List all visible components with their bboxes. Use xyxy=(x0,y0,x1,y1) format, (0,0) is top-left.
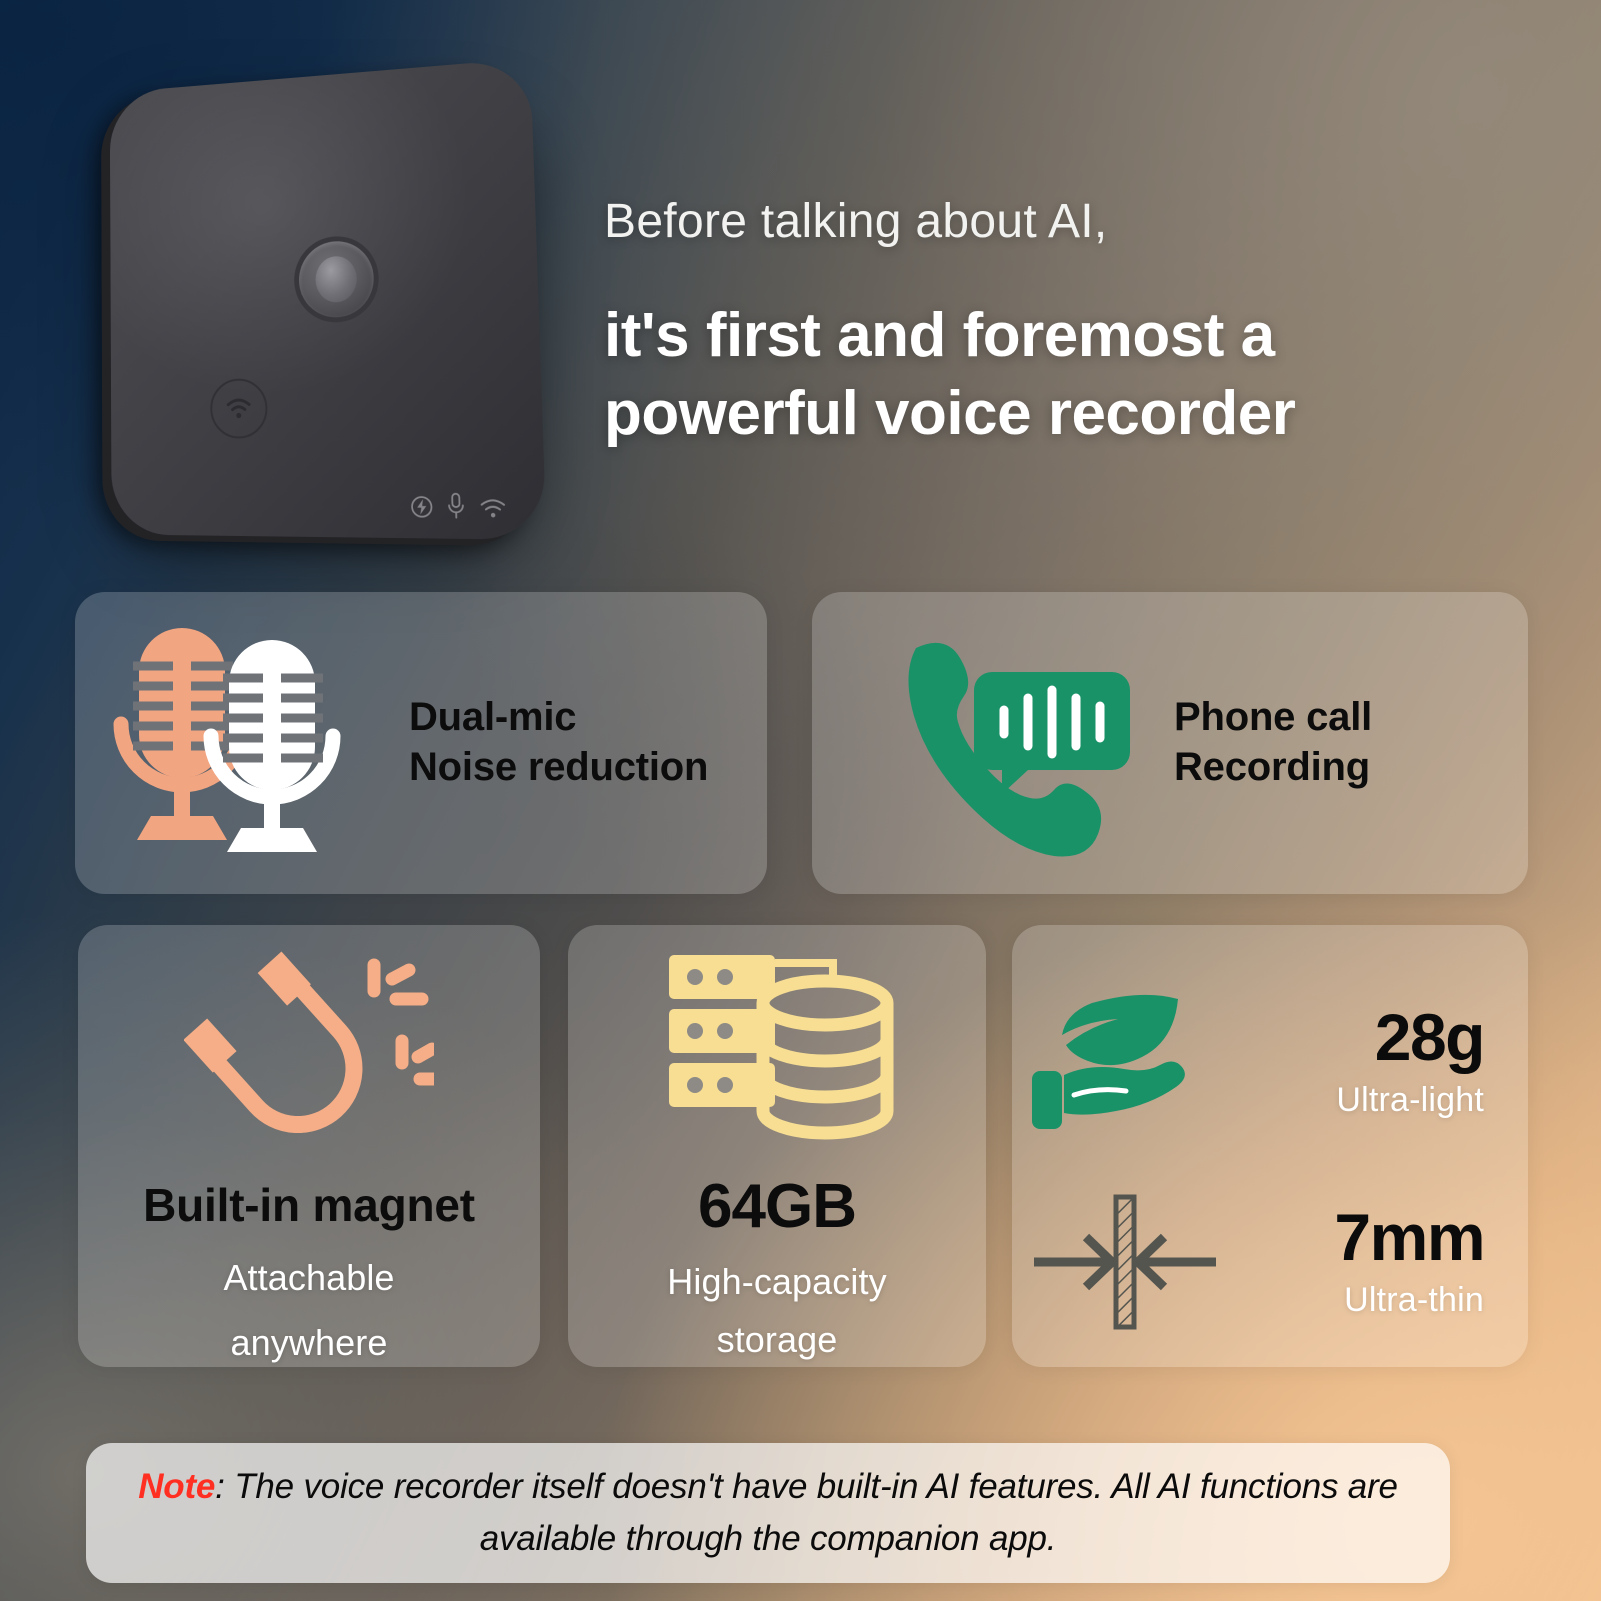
server-database-icon xyxy=(657,945,897,1155)
feature-card-phone-call: Phone call Recording xyxy=(812,592,1528,894)
note-body: The voice recorder itself doesn't have b… xyxy=(234,1467,1398,1559)
spec-row-weight: 28g Ultra-light xyxy=(1022,973,1518,1151)
magnet-sub-line-1: Attachable xyxy=(78,1256,540,1299)
product-image-voice-recorder xyxy=(96,72,566,572)
wifi-icon xyxy=(479,497,507,521)
charge-icon xyxy=(410,494,433,519)
dual-mic-title-line-2: Noise reduction xyxy=(409,743,708,793)
phone-call-title-line-1: Phone call xyxy=(1174,693,1372,743)
device-body xyxy=(110,58,547,540)
magnet-icon xyxy=(184,943,434,1173)
headline-eyebrow: Before talking about AI, xyxy=(604,196,1564,249)
note-text: Note: The voice recorder itself doesn't … xyxy=(86,1461,1450,1566)
feature-card-storage: 64GB High-capacity storage xyxy=(568,925,986,1367)
database-cylinder-icon xyxy=(763,981,887,1133)
speech-bubble-waveform-icon xyxy=(974,672,1130,794)
microphone-icon-front xyxy=(211,640,333,852)
nfc-button xyxy=(210,378,268,439)
spec-row-thickness: 7mm Ultra-thin xyxy=(1022,1173,1518,1351)
thickness-measure-icon xyxy=(1030,1187,1220,1337)
hand-icon xyxy=(1032,1061,1185,1129)
headline-main-line-1: it's first and foremost a xyxy=(604,297,1564,375)
spec-weight-value: 28g xyxy=(1228,1004,1484,1070)
microphone-icon xyxy=(446,492,466,520)
leaf-in-hand-icon xyxy=(1030,987,1220,1137)
phone-call-recording-icon xyxy=(882,628,1132,858)
magnet-sub-line-2: anywhere xyxy=(78,1321,540,1364)
phone-call-text: Phone call Recording xyxy=(1174,693,1372,792)
phone-call-title-line-2: Recording xyxy=(1174,743,1372,793)
note-label: Note xyxy=(138,1467,215,1506)
spec-thickness-label: Ultra-thin xyxy=(1228,1282,1484,1319)
feature-card-magnet: Built-in magnet Attachable anywhere xyxy=(78,925,540,1367)
dual-mic-title-line-1: Dual-mic xyxy=(409,693,708,743)
headline-main-line-2: powerful voice recorder xyxy=(604,375,1564,453)
wifi-icon xyxy=(224,395,253,421)
spec-thickness-value: 7mm xyxy=(1228,1204,1484,1270)
leaf-icon xyxy=(1062,995,1178,1065)
storage-sub-line-1: High-capacity xyxy=(568,1260,986,1304)
spark-lines xyxy=(374,965,434,1079)
note-separator: : xyxy=(215,1467,234,1506)
storage-sub-line-2: storage xyxy=(568,1318,986,1362)
feature-card-dual-mic: Dual-mic Noise reduction xyxy=(75,592,767,894)
dual-mic-text: Dual-mic Noise reduction xyxy=(409,693,708,792)
note-banner: Note: The voice recorder itself doesn't … xyxy=(86,1443,1450,1583)
headline-block: Before talking about AI, it's first and … xyxy=(604,196,1564,453)
feature-card-specs: 28g Ultra-light xyxy=(1012,925,1528,1367)
device-indicator-icons xyxy=(410,492,507,520)
infographic-canvas: Before talking about AI, it's first and … xyxy=(0,0,1601,1601)
spec-weight-label: Ultra-light xyxy=(1228,1082,1484,1119)
dual-microphone-icon xyxy=(109,618,399,868)
magnet-title: Built-in magnet xyxy=(78,1177,540,1234)
storage-title: 64GB xyxy=(568,1169,986,1246)
